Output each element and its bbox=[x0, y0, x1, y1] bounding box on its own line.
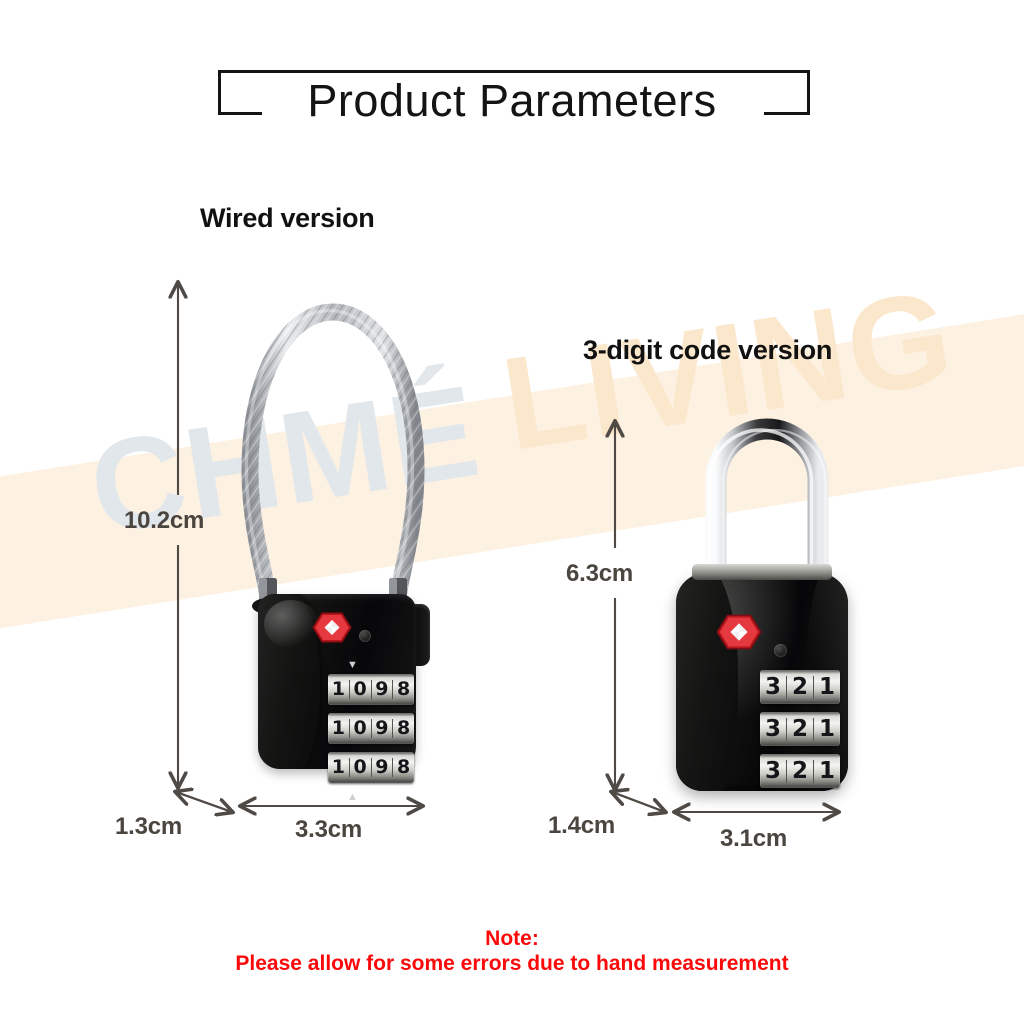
wired-lock-dial-stack[interactable]: 1098 1098 1098 bbox=[328, 674, 414, 791]
section-heading-wired: Wired version bbox=[200, 203, 374, 234]
three-digit-lock-dial-stack[interactable]: 321 321 321 bbox=[760, 670, 840, 796]
dial-row[interactable]: 1098 bbox=[328, 674, 414, 705]
dial-row[interactable]: 321 bbox=[760, 712, 840, 746]
wired-lock-highlight bbox=[264, 600, 318, 648]
dial-row[interactable]: 321 bbox=[760, 754, 840, 788]
tsa-logo-icon-three-digit bbox=[716, 614, 762, 650]
dimension-label-three-digit-height: 6.3cm bbox=[566, 560, 633, 588]
three-digit-lock-reset-button[interactable] bbox=[774, 644, 787, 657]
dial-row[interactable]: 321 bbox=[760, 670, 840, 704]
dial-row[interactable]: 1098 bbox=[328, 752, 414, 783]
steel-cable-loop bbox=[228, 282, 438, 612]
wired-dial-down-marker: ▲ bbox=[347, 792, 358, 803]
wired-dial-up-marker: ▼ bbox=[347, 660, 358, 671]
tsa-logo-icon-wired bbox=[312, 612, 352, 643]
dimension-label-three-digit-width: 3.1cm bbox=[720, 825, 787, 853]
dimension-label-wired-width: 3.3cm bbox=[295, 816, 362, 844]
note-text: Please allow for some errors due to hand… bbox=[0, 950, 1024, 978]
product-image-wired-padlock: ▼ 1098 1098 1098 ▲ bbox=[228, 282, 438, 790]
shackle-collar bbox=[692, 564, 832, 580]
wired-lock-reset-button[interactable] bbox=[359, 630, 371, 642]
product-image-three-digit-padlock: 321 321 321 bbox=[664, 418, 864, 790]
infographic-canvas: CHMÉ LIVING Product Parameters Wired ver… bbox=[0, 0, 1024, 1024]
dimension-label-wired-depth: 1.3cm bbox=[115, 813, 182, 841]
dial-row[interactable]: 1098 bbox=[328, 713, 414, 744]
dimension-label-wired-height: 10.2cm bbox=[124, 507, 204, 535]
page-title: Product Parameters bbox=[0, 78, 1024, 123]
section-heading-three-digit: 3-digit code version bbox=[583, 335, 832, 366]
dimension-label-three-digit-depth: 1.4cm bbox=[548, 812, 615, 840]
